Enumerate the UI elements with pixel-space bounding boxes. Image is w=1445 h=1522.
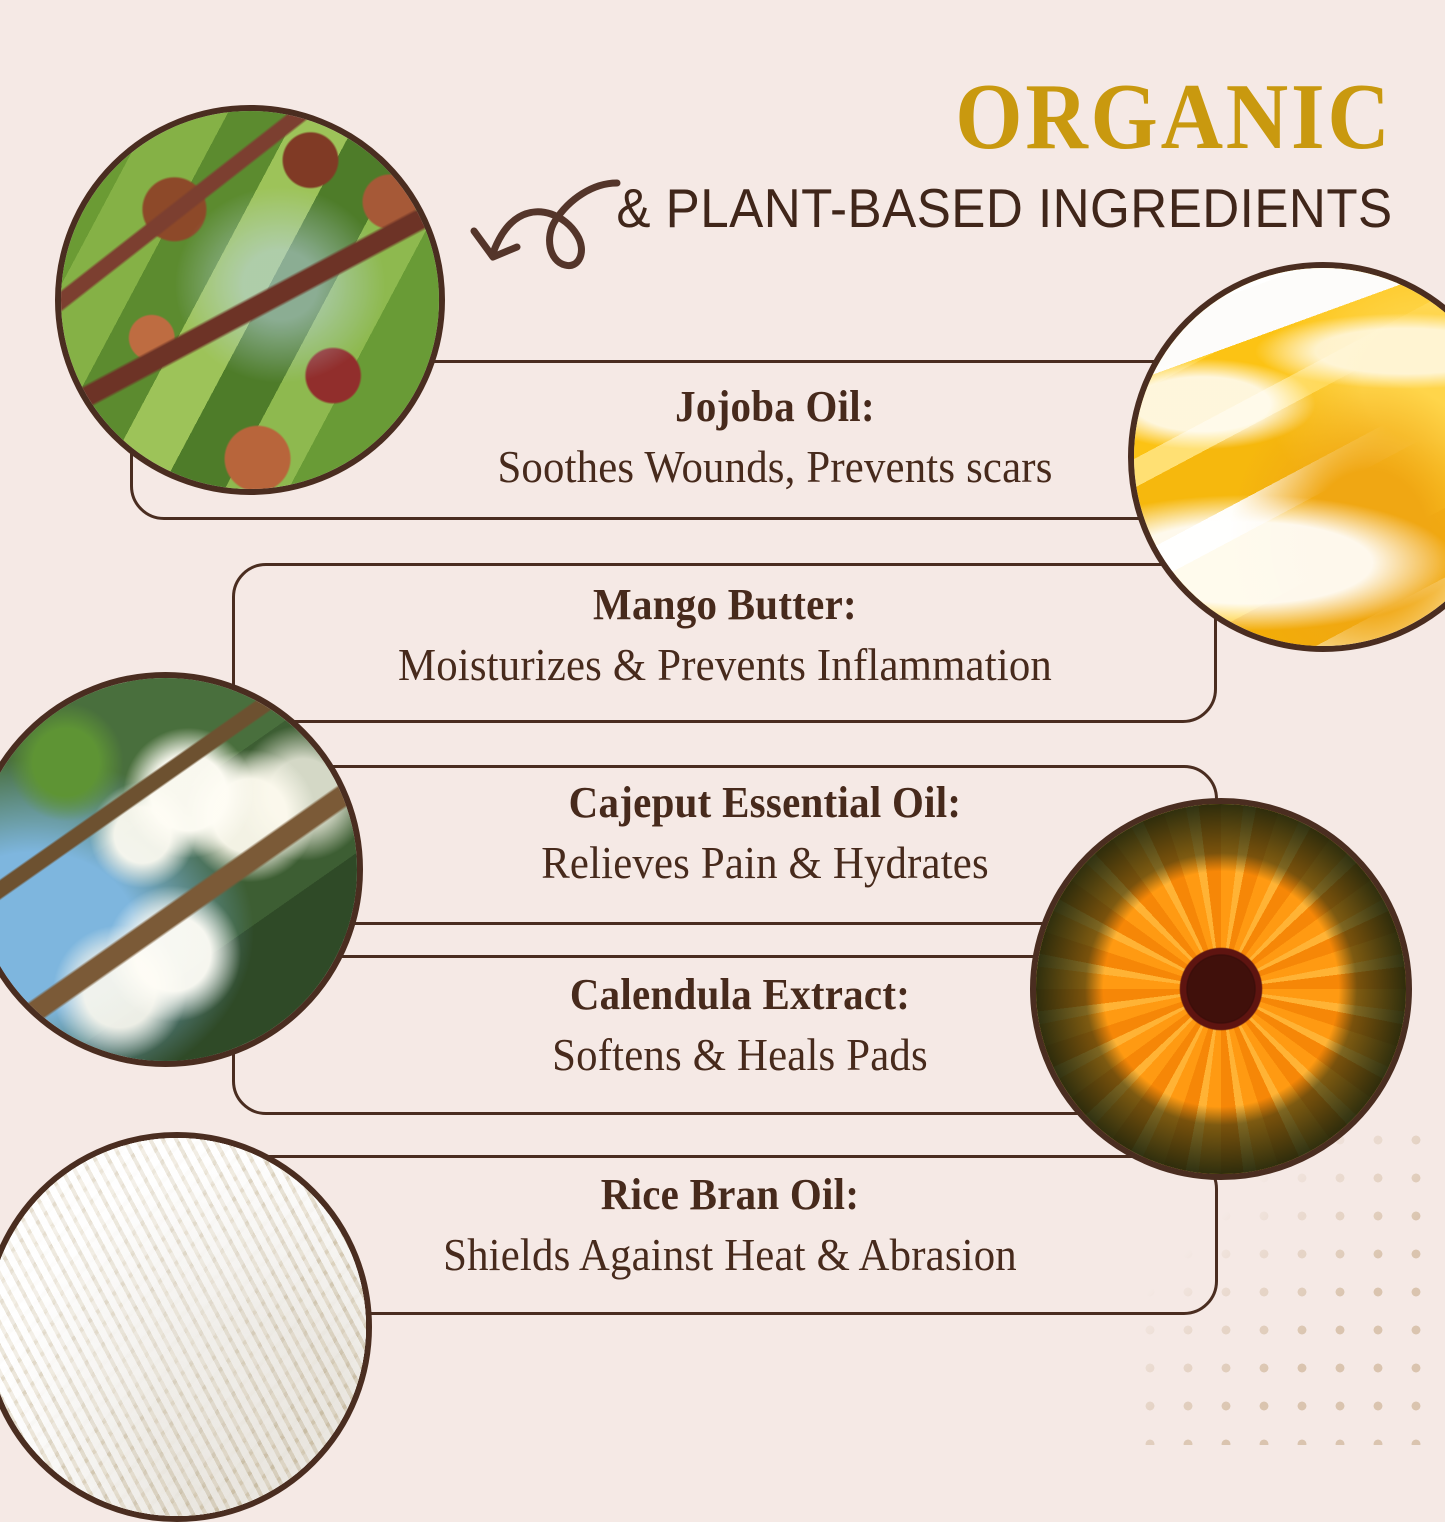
ingredient-image-calendula: [1030, 798, 1412, 1180]
ingredient-label-mango-butter: Mango Butter: Moisturizes & Prevents Inf…: [245, 580, 1205, 691]
ingredient-benefit: Moisturizes & Prevents Inflammation: [279, 639, 1172, 691]
jojoba-fruit-photo: [61, 111, 439, 489]
headline-organic: ORGANIC: [625, 70, 1393, 166]
ingredient-benefit: Soothes Wounds, Prevents scars: [305, 441, 1244, 493]
headline-subtitle: & PLANT-BASED INGREDIENTS: [617, 178, 1393, 239]
ingredient-title: Rice Bran Oil:: [284, 1170, 1177, 1219]
rice-grains-photo: [0, 1138, 366, 1516]
ingredient-benefit: Softens & Heals Pads: [322, 1029, 1159, 1081]
infographic-canvas: Jojoba Oil: Soothes Wounds, Prevents sca…: [0, 0, 1445, 1445]
ingredient-label-rice-bran: Rice Bran Oil: Shields Against Heat & Ab…: [250, 1170, 1210, 1281]
ingredient-title: Mango Butter:: [279, 580, 1172, 629]
ingredient-image-rice-bran: [0, 1132, 372, 1522]
ingredient-title: Jojoba Oil:: [305, 382, 1244, 431]
mango-butter-photo: [1134, 268, 1445, 646]
ingredient-image-jojoba: [55, 105, 445, 495]
page-title: ORGANIC & PLANT-BASED INGREDIENTS: [558, 70, 1393, 238]
calendula-flower-photo: [1036, 804, 1406, 1174]
ingredient-benefit: Shields Against Heat & Abrasion: [284, 1229, 1177, 1281]
curly-arrow-icon: [465, 165, 625, 290]
ingredient-image-cajeput: [0, 672, 363, 1067]
ingredient-image-mango-butter: [1128, 262, 1445, 652]
cajeput-blossom-photo: [0, 678, 357, 1061]
